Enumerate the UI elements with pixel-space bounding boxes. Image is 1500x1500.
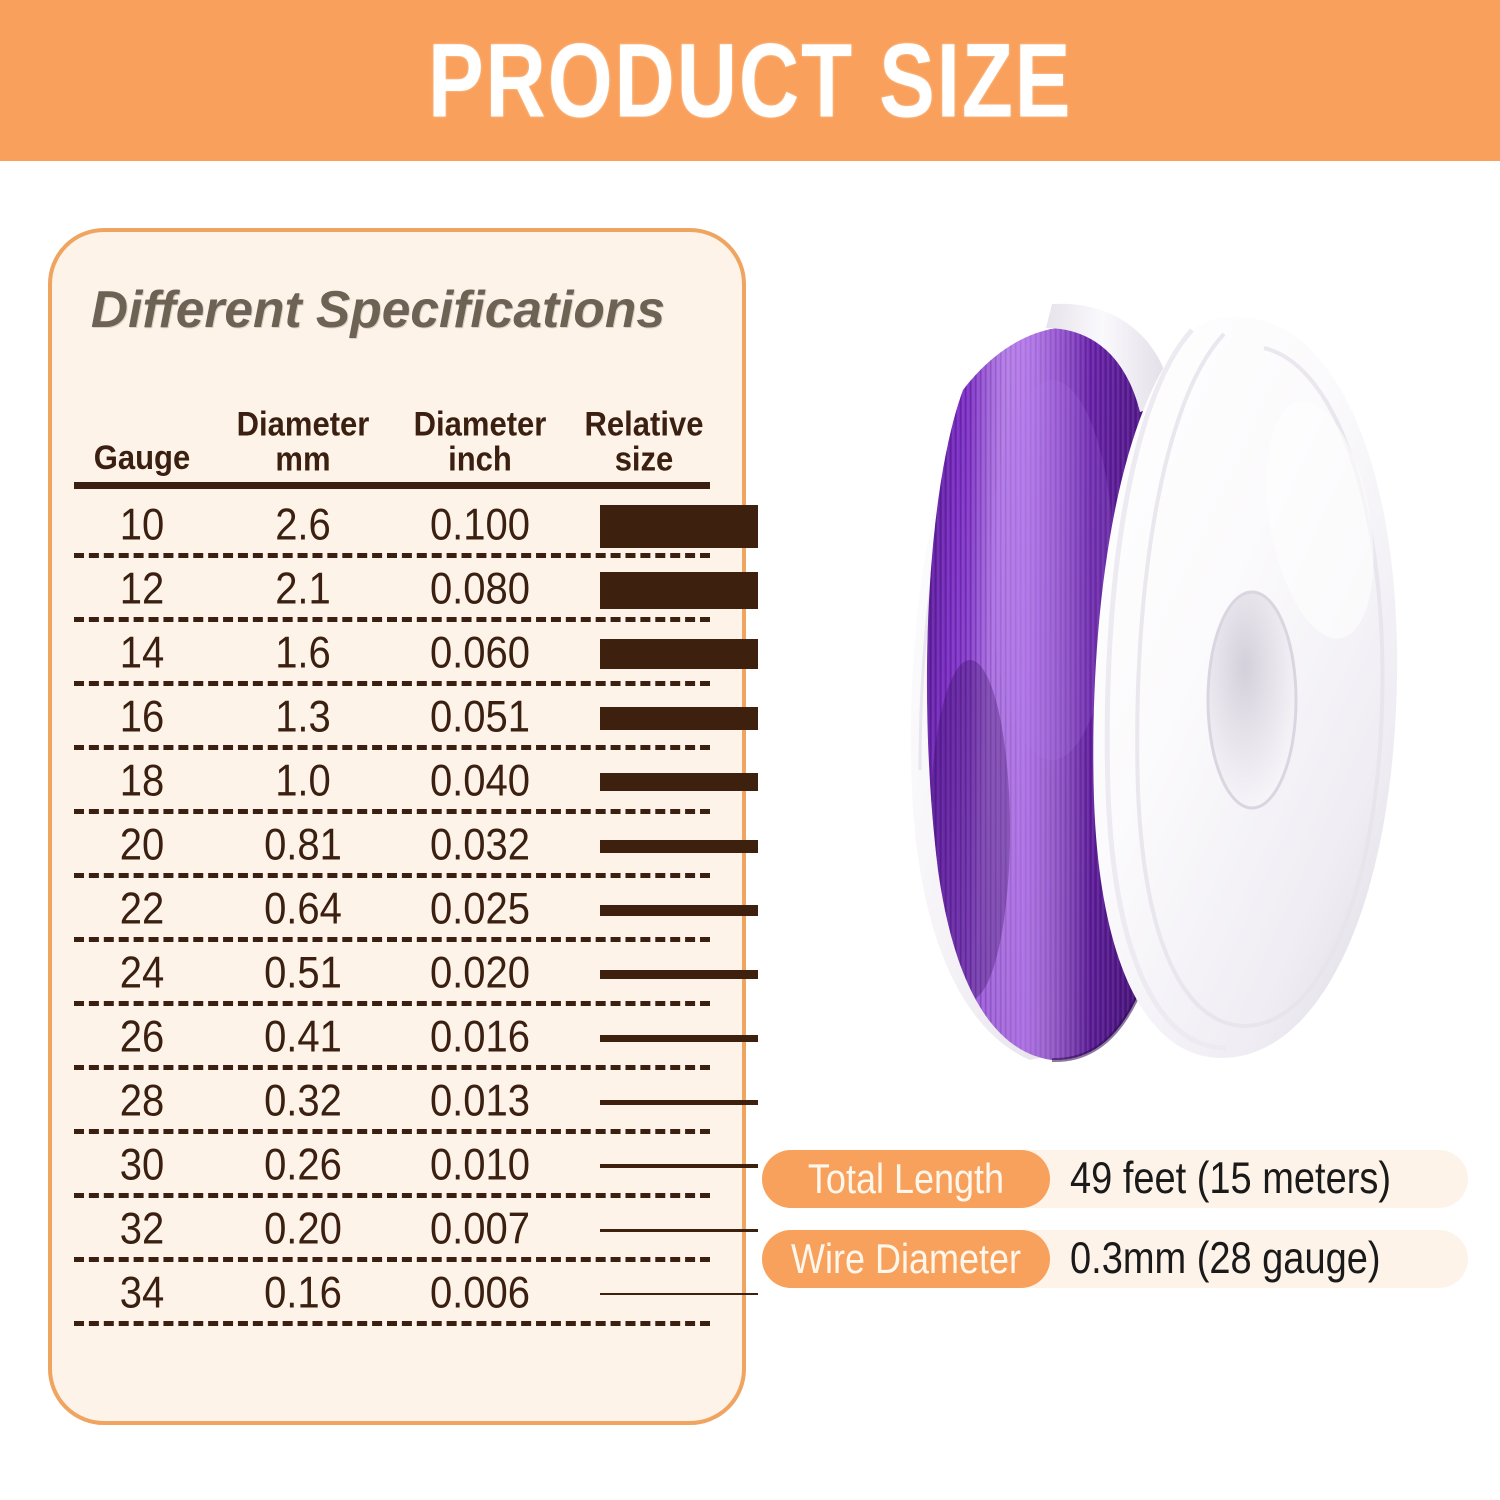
- cell-gauge: 18: [74, 753, 210, 809]
- cell-relative-size: [600, 686, 758, 750]
- table-row: 240.510.020: [74, 942, 720, 1006]
- cell-diameter-mm: 0.81: [214, 817, 392, 873]
- column-header-diameter-mm-line2: mm: [214, 442, 392, 477]
- cell-diameter-mm: 1.0: [214, 753, 392, 809]
- cell-gauge: 14: [74, 625, 210, 681]
- relative-size-bar: [600, 1035, 758, 1042]
- cell-diameter-inch: 0.020: [390, 945, 570, 1001]
- column-header-relative-size-line2: size: [568, 442, 720, 477]
- cell-diameter-mm: 1.6: [214, 625, 392, 681]
- cell-relative-size: [600, 622, 758, 686]
- cell-relative-size: [600, 942, 758, 1006]
- cell-diameter-inch: 0.007: [390, 1201, 570, 1257]
- cell-gauge: 22: [74, 881, 210, 937]
- cell-relative-size: [600, 558, 758, 622]
- cell-diameter-inch: 0.060: [390, 625, 570, 681]
- cell-relative-size: [600, 1262, 758, 1326]
- cell-diameter-inch: 0.040: [390, 753, 570, 809]
- header-banner: PRODUCT SIZE: [0, 0, 1500, 161]
- cell-diameter-inch: 0.051: [390, 689, 570, 745]
- cell-diameter-inch: 0.010: [390, 1137, 570, 1193]
- wire-spool-illustration: [820, 270, 1460, 1080]
- cell-diameter-mm: 0.20: [214, 1201, 392, 1257]
- cell-diameter-mm: 2.6: [214, 497, 392, 553]
- info-badge-label: Wire Diameter: [791, 1238, 1021, 1280]
- table-row: 320.200.007: [74, 1198, 720, 1262]
- cell-gauge: 16: [74, 689, 210, 745]
- column-header-diameter-inch: Diameter inch: [390, 406, 570, 477]
- table-row: 200.810.032: [74, 814, 720, 878]
- cell-gauge: 26: [74, 1009, 210, 1065]
- specifications-card: Different Specifications Gauge Diameter …: [48, 228, 746, 1425]
- info-badge-value: 0.3mm (28 gauge): [1070, 1237, 1381, 1281]
- table-row: 161.30.051: [74, 686, 720, 750]
- column-header-diameter-inch-line2: inch: [390, 442, 570, 477]
- cell-diameter-mm: 2.1: [214, 561, 392, 617]
- spool-front-flange: [1093, 317, 1397, 1058]
- column-header-gauge: Gauge: [74, 440, 210, 475]
- cell-relative-size: [600, 1198, 758, 1262]
- product-photo-wire-spool: [820, 270, 1460, 1080]
- cell-diameter-inch: 0.006: [390, 1265, 570, 1321]
- info-badge-label-pill: Wire Diameter: [762, 1230, 1050, 1288]
- relative-size-bar: [600, 773, 758, 791]
- table-row: 260.410.016: [74, 1006, 720, 1070]
- relative-size-bar: [600, 1164, 758, 1168]
- column-header-diameter-mm-line1: Diameter: [214, 406, 392, 441]
- product-info-badges: Total Length49 feet (15 meters)Wire Diam…: [762, 1150, 1468, 1310]
- table-row: 122.10.080: [74, 558, 720, 622]
- cell-diameter-mm: 0.26: [214, 1137, 392, 1193]
- cell-relative-size: [600, 814, 758, 878]
- relative-size-bar: [600, 1293, 758, 1295]
- info-badge-value: 49 feet (15 meters): [1070, 1157, 1391, 1201]
- cell-diameter-mm: 0.32: [214, 1073, 392, 1129]
- info-badge-row: Wire Diameter0.3mm (28 gauge): [762, 1230, 1468, 1288]
- info-badge-value-container: 49 feet (15 meters): [1070, 1150, 1391, 1208]
- cell-relative-size: [600, 878, 758, 942]
- table-row: 181.00.040: [74, 750, 720, 814]
- relative-size-bar: [600, 840, 758, 853]
- table-row: 280.320.013: [74, 1070, 720, 1134]
- cell-gauge: 32: [74, 1201, 210, 1257]
- relative-size-bar: [600, 639, 758, 669]
- cell-relative-size: [600, 1006, 758, 1070]
- table-row: 102.60.100: [74, 494, 720, 558]
- info-badge-value-container: 0.3mm (28 gauge): [1070, 1230, 1381, 1288]
- relative-size-bar: [600, 970, 758, 979]
- relative-size-bar: [600, 505, 758, 548]
- column-header-diameter-mm: Diameter mm: [214, 406, 392, 477]
- cell-diameter-inch: 0.080: [390, 561, 570, 617]
- relative-size-bar: [600, 905, 758, 916]
- cell-gauge: 28: [74, 1073, 210, 1129]
- cell-diameter-inch: 0.013: [390, 1073, 570, 1129]
- column-header-relative-size-line1: Relative: [568, 406, 720, 441]
- table-header-row: Gauge Diameter mm Diameter inch Relative…: [74, 382, 720, 482]
- cell-diameter-inch: 0.025: [390, 881, 570, 937]
- relative-size-bar: [600, 707, 758, 730]
- info-badge-label-pill: Total Length: [762, 1150, 1050, 1208]
- info-badge-row: Total Length49 feet (15 meters): [762, 1150, 1468, 1208]
- relative-size-bar: [600, 572, 758, 609]
- relative-size-bar: [600, 1100, 758, 1105]
- cell-relative-size: [600, 1134, 758, 1198]
- cell-gauge: 30: [74, 1137, 210, 1193]
- column-header-relative-size: Relative size: [568, 406, 720, 477]
- cell-diameter-mm: 0.51: [214, 945, 392, 1001]
- cell-gauge: 12: [74, 561, 210, 617]
- table-row: 141.60.060: [74, 622, 720, 686]
- cell-diameter-inch: 0.016: [390, 1009, 570, 1065]
- column-header-gauge-line1: Gauge: [74, 440, 210, 475]
- cell-gauge: 24: [74, 945, 210, 1001]
- info-badge-label: Total Length: [808, 1158, 1004, 1200]
- cell-diameter-mm: 0.41: [214, 1009, 392, 1065]
- cell-relative-size: [600, 750, 758, 814]
- page-title: PRODUCT SIZE: [428, 28, 1072, 133]
- specifications-title: Different Specifications: [91, 280, 665, 340]
- cell-gauge: 34: [74, 1265, 210, 1321]
- table-row: 220.640.025: [74, 878, 720, 942]
- cell-diameter-mm: 0.64: [214, 881, 392, 937]
- table-header-rule: [74, 482, 710, 489]
- table-row: 300.260.010: [74, 1134, 720, 1198]
- cell-diameter-inch: 0.100: [390, 497, 570, 553]
- cell-diameter-inch: 0.032: [390, 817, 570, 873]
- table-body: 102.60.100122.10.080141.60.060161.30.051…: [74, 494, 720, 1326]
- gauge-spec-table: Gauge Diameter mm Diameter inch Relative…: [74, 382, 720, 482]
- cell-gauge: 20: [74, 817, 210, 873]
- cell-diameter-mm: 0.16: [214, 1265, 392, 1321]
- cell-relative-size: [600, 1070, 758, 1134]
- cell-diameter-mm: 1.3: [214, 689, 392, 745]
- row-separator: [74, 1321, 710, 1326]
- column-header-diameter-inch-line1: Diameter: [390, 406, 570, 441]
- cell-relative-size: [600, 494, 758, 558]
- cell-gauge: 10: [74, 497, 210, 553]
- relative-size-bar: [600, 1229, 758, 1232]
- table-row: 340.160.006: [74, 1262, 720, 1326]
